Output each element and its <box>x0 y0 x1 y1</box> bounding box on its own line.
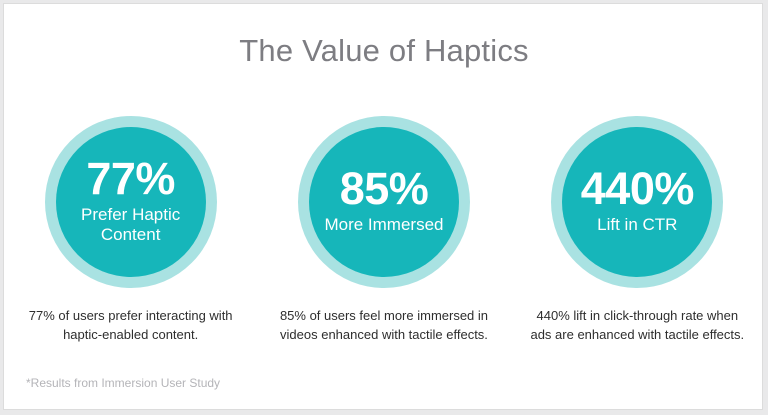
caption-text-2: 85% of users feel more immersed in video… <box>271 306 496 344</box>
footnote: *Results from Immersion User Study <box>26 375 220 391</box>
caption-column-1: 77% of users prefer interacting with hap… <box>6 306 256 344</box>
stat-column-prefer-haptic-content: 77% Prefer Haptic Content <box>6 116 256 288</box>
stat-label-1: Prefer Haptic Content <box>65 205 197 245</box>
captions-row: 77% of users prefer interacting with hap… <box>4 306 763 344</box>
stat-circle-1: 77% Prefer Haptic Content <box>45 116 217 288</box>
infographic-card: The Value of Haptics 77% Prefer Haptic C… <box>3 3 763 410</box>
stat-circle-3: 440% Lift in CTR <box>551 116 723 288</box>
stat-column-lift-in-ctr: 440% Lift in CTR <box>512 116 762 288</box>
stat-label-2: More Immersed <box>324 215 443 235</box>
stat-value-1: 77% <box>86 155 175 203</box>
stat-circle-2: 85% More Immersed <box>298 116 470 288</box>
caption-column-3: 440% lift in click-through rate when ads… <box>512 306 762 344</box>
caption-text-3: 440% lift in click-through rate when ads… <box>525 306 750 344</box>
stat-circle-inner-3: 440% Lift in CTR <box>562 127 712 277</box>
stat-value-2: 85% <box>340 165 429 213</box>
stats-row: 77% Prefer Haptic Content 85% More Immer… <box>4 116 763 291</box>
caption-text-1: 77% of users prefer interacting with hap… <box>18 306 243 344</box>
stat-circle-inner-2: 85% More Immersed <box>309 127 459 277</box>
stat-label-3: Lift in CTR <box>597 215 677 235</box>
stat-column-more-immersed: 85% More Immersed <box>259 116 509 288</box>
stat-value-3: 440% <box>581 165 694 213</box>
caption-column-2: 85% of users feel more immersed in video… <box>259 306 509 344</box>
stat-circle-inner-1: 77% Prefer Haptic Content <box>56 127 206 277</box>
page-title: The Value of Haptics <box>4 32 763 70</box>
